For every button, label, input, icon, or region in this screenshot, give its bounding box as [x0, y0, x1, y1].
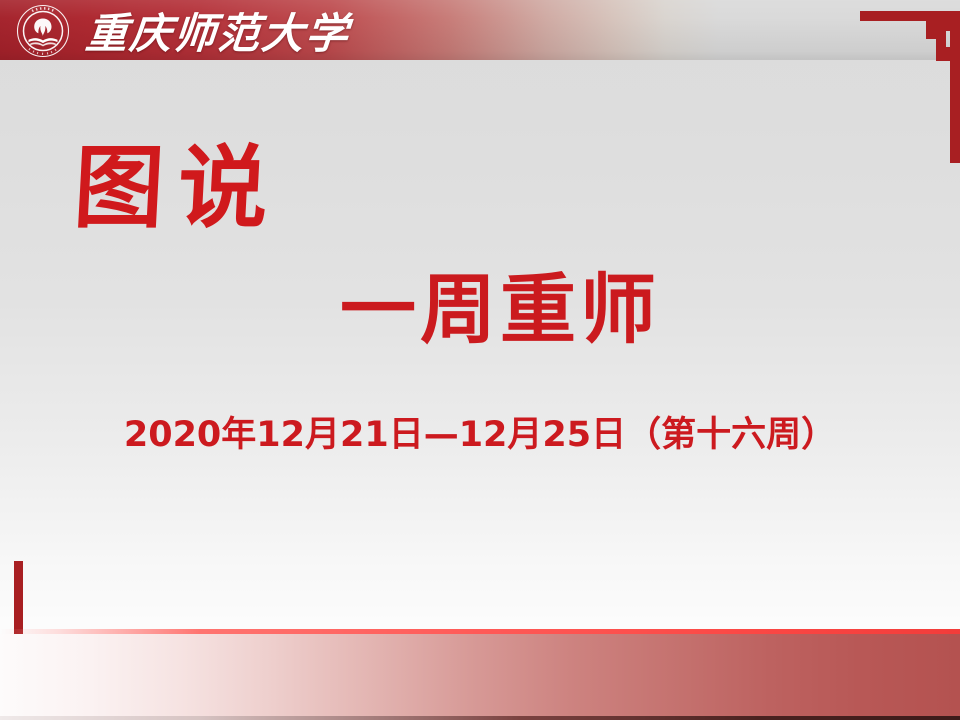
presentation-slide: 重庆师范大学	[0, 0, 960, 720]
corner-ornament-top-right-icon	[850, 0, 960, 175]
footer-gradient-band	[0, 634, 960, 716]
university-name: 重庆师范大学	[84, 2, 353, 58]
footer-bottom-edge	[0, 716, 960, 720]
university-emblem-icon	[16, 4, 70, 58]
page-date-range: 2020年12月21日—12月25日（第十六周）	[0, 414, 960, 456]
page-title-sub: 一周重师	[0, 272, 960, 348]
page-title-main: 图说	[72, 143, 285, 233]
